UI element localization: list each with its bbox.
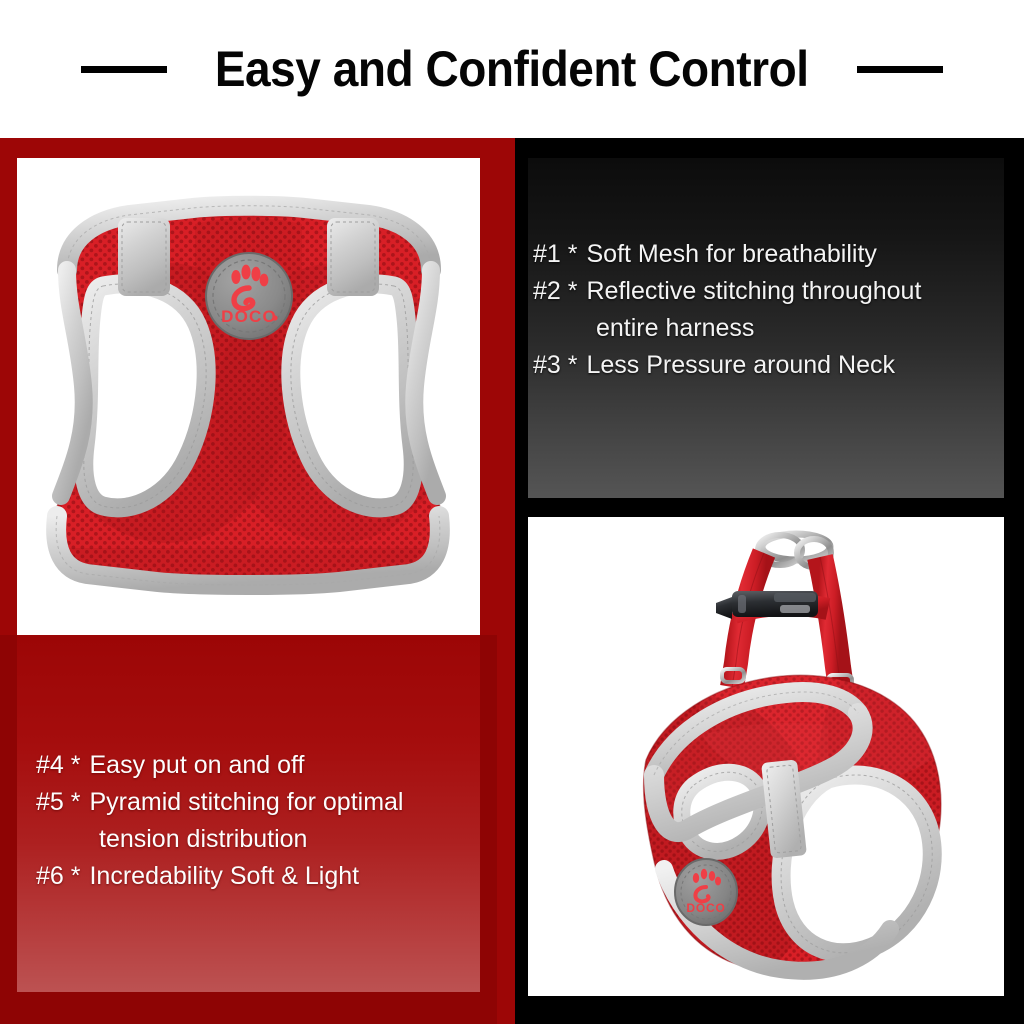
panel-red-edge (497, 512, 515, 1024)
product-image-angle-panel: DOCO (497, 512, 1024, 1024)
logo-wordmark: DOCO (686, 901, 725, 915)
product-image-front: DOCO (17, 158, 480, 635)
harness-velcro-strap-left (118, 218, 170, 296)
feature-item-4: #4 * Easy put on and off (36, 747, 480, 784)
harness-leg-opening-left (84, 284, 206, 508)
feature-label: Incredability Soft & Light (89, 858, 359, 895)
logo-wordmark: DOCO (221, 307, 277, 326)
feature-item-5-continuation: tension distribution (36, 821, 480, 858)
feature-label-continuation: entire harness (596, 310, 754, 347)
feature-item-3: #3 * Less Pressure around Neck (533, 347, 1004, 384)
feature-number: #1 * (533, 236, 586, 273)
feature-item-1: #1 * Soft Mesh for breathability (533, 236, 1004, 273)
feature-label: Easy put on and off (89, 747, 304, 784)
harness-leg-opening-right (781, 775, 932, 953)
feature-number: #6 * (36, 858, 89, 895)
features-top-panel: #1 * Soft Mesh for breathability #2 * Re… (497, 138, 1024, 512)
feature-number: #5 * (36, 784, 89, 821)
product-image-front-panel: DOCO (0, 138, 497, 635)
feature-number: #2 * (533, 273, 586, 310)
panel-red-edge (497, 138, 515, 512)
feature-item-5: #5 * Pyramid stitching for optimal (36, 784, 480, 821)
feature-item-2-continuation: entire harness (533, 310, 1004, 347)
feature-label: Pyramid stitching for optimal (89, 784, 403, 821)
harness-buckle (716, 591, 818, 619)
title-dash-right-icon (857, 66, 943, 73)
features-top-list: #1 * Soft Mesh for breathability #2 * Re… (528, 158, 1004, 498)
features-bottom-list: #4 * Easy put on and off #5 * Pyramid st… (17, 635, 480, 992)
title-dash-left-icon (81, 66, 167, 73)
harness-front-illustration: DOCO (17, 158, 480, 635)
product-image-angle: DOCO (528, 517, 1004, 996)
page-title: Easy and Confident Control (195, 40, 829, 98)
feature-label-continuation: tension distribution (99, 821, 307, 858)
feature-item-6: #6 * Incredability Soft & Light (36, 858, 480, 895)
feature-item-2: #2 * Reflective stitching throughout (533, 273, 1004, 310)
harness-leg-opening-right (291, 284, 413, 508)
feature-label: Soft Mesh for breathability (586, 236, 876, 273)
page-header: Easy and Confident Control (0, 0, 1024, 138)
feature-number: #4 * (36, 747, 89, 784)
feature-number: #3 * (533, 347, 586, 384)
feature-label: Less Pressure around Neck (586, 347, 894, 384)
feature-label: Reflective stitching throughout (586, 273, 921, 310)
features-bottom-panel: #4 * Easy put on and off #5 * Pyramid st… (0, 635, 497, 1024)
product-logo-badge: DOCO (675, 859, 737, 925)
harness-angled-illustration: DOCO (528, 517, 1004, 996)
harness-velcro-strap-right (327, 218, 379, 296)
product-logo-badge: DOCO (206, 253, 292, 339)
